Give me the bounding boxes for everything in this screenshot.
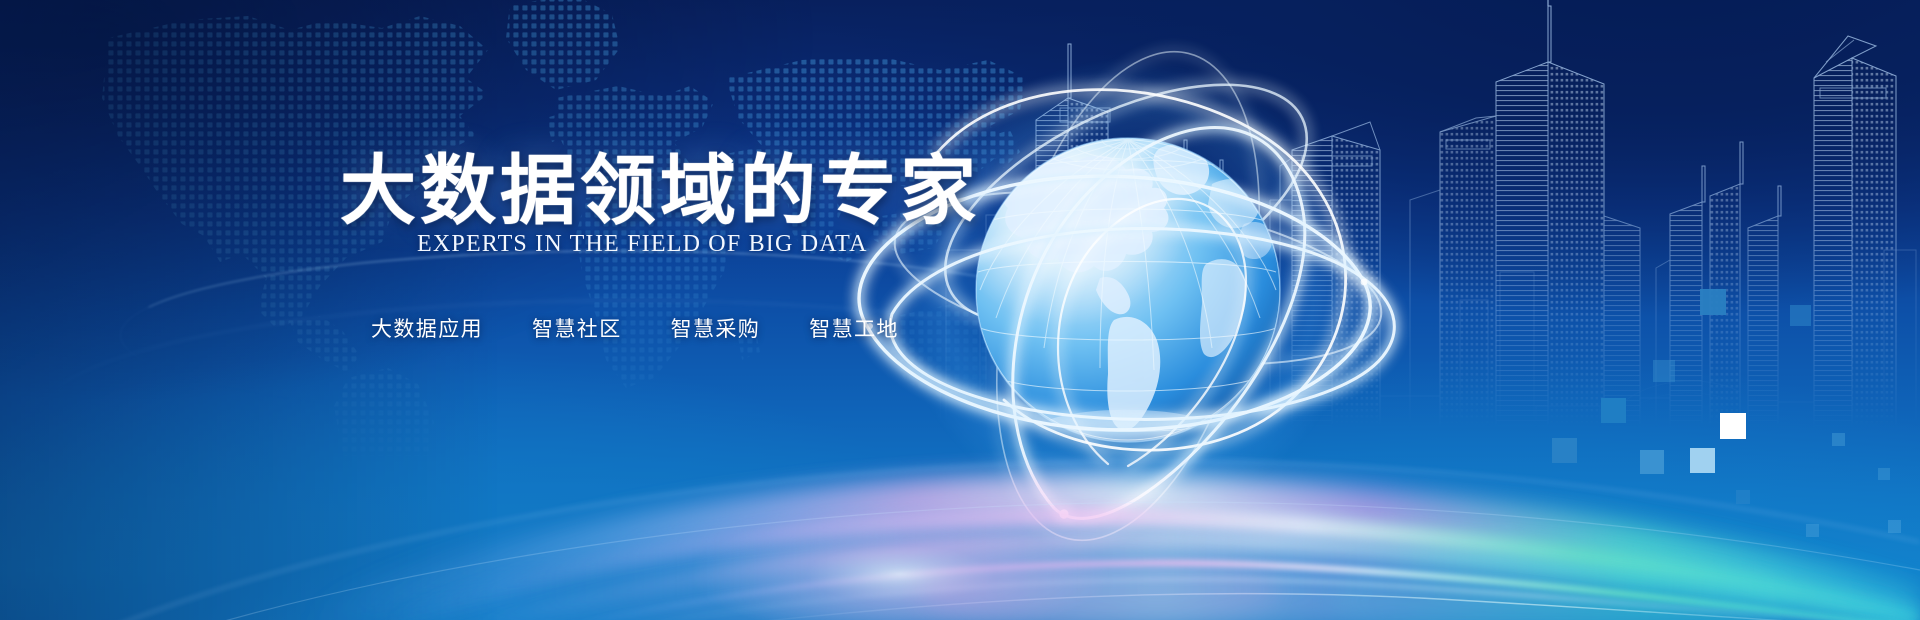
- nav-item-smart-construction-site[interactable]: 智慧工地: [809, 313, 899, 343]
- square-7: [1640, 450, 1664, 474]
- nav-item-smart-procurement[interactable]: 智慧采购: [671, 313, 761, 343]
- banner-nav: 大数据应用 智慧社区 智慧采购 智慧工地: [371, 313, 899, 343]
- square-2: [1790, 305, 1811, 326]
- nav-item-big-data-application[interactable]: 大数据应用: [371, 313, 483, 343]
- square-5: [1720, 413, 1746, 439]
- square-1: [1700, 289, 1726, 315]
- square-3: [1653, 360, 1675, 382]
- page-title: 大数据领域的专家: [340, 152, 980, 233]
- banner-hero: 大数据领域的专家 EXPERTS IN THE FIELD OF BIG DAT…: [0, 0, 1920, 620]
- square-11: [1736, 490, 1750, 504]
- square-10: [1878, 468, 1890, 480]
- nav-item-smart-community[interactable]: 智慧社区: [532, 313, 622, 343]
- square-8: [1690, 448, 1715, 473]
- square-12: [1888, 520, 1901, 533]
- page-subtitle: EXPERTS IN THE FIELD OF BIG DATA: [417, 231, 868, 258]
- square-4: [1601, 398, 1626, 423]
- mosaic-squares-icon: [0, 0, 1920, 620]
- square-6: [1552, 438, 1577, 463]
- square-13: [1806, 524, 1819, 537]
- square-9: [1832, 433, 1845, 446]
